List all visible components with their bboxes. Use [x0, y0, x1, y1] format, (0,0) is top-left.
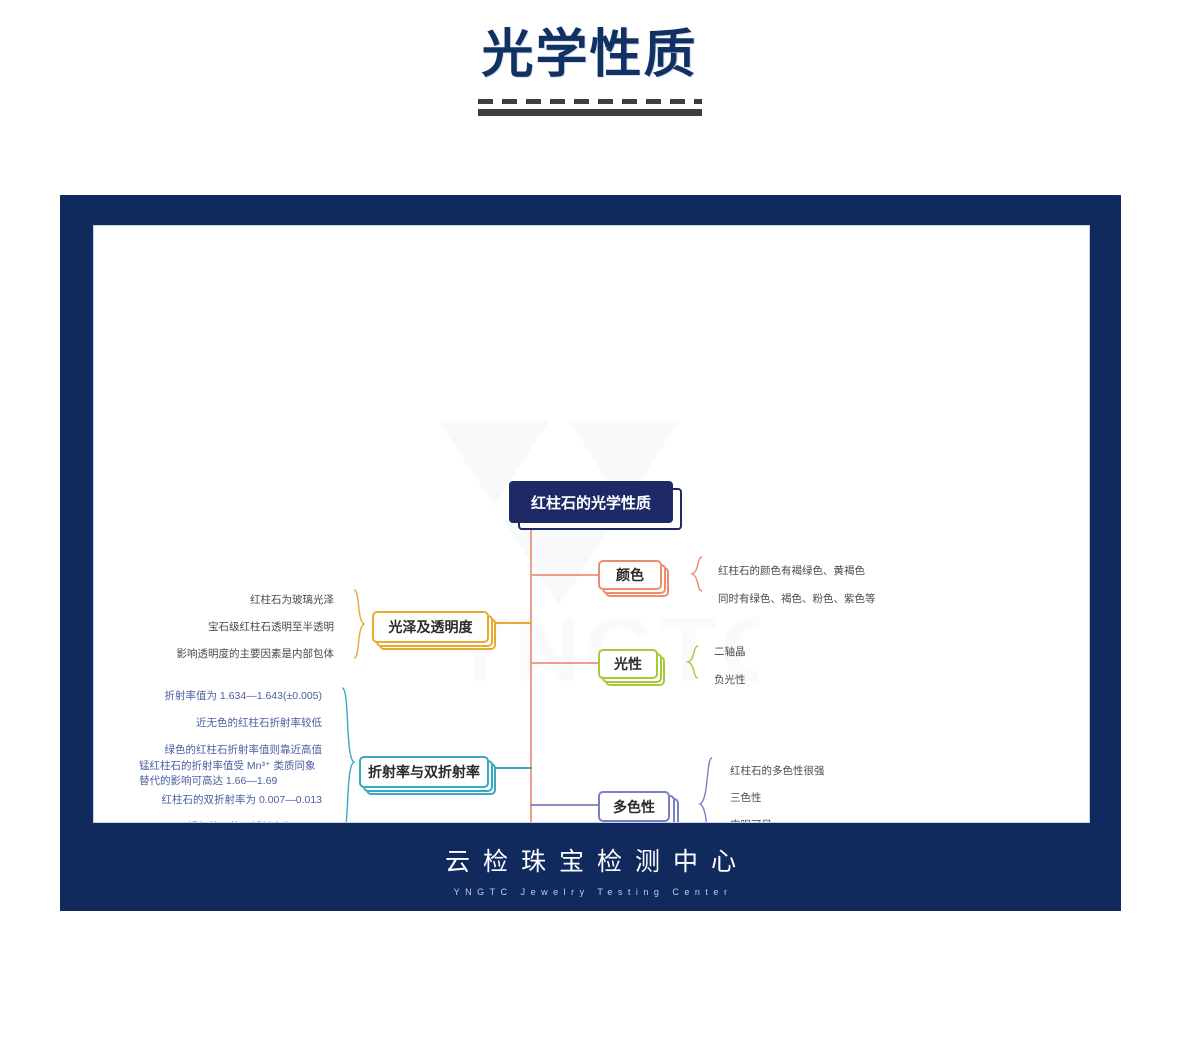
connector-refractive — [492, 767, 532, 769]
leaf-optical-2: 负光性 — [714, 673, 746, 688]
leaf-refractive-6: 锰红柱石的双折射率为 0.029 — [94, 820, 322, 823]
page-title: 光学性质 — [0, 24, 1179, 86]
brace-optical-character — [686, 645, 700, 679]
connector-luster — [492, 622, 532, 624]
node-pleochroism[interactable]: 多色性 — [598, 791, 670, 822]
spine-vertical — [530, 519, 532, 823]
title-solid-rule — [478, 109, 702, 116]
title-underline-group — [478, 99, 702, 116]
brace-luster — [352, 588, 366, 660]
title-dashed-rule — [478, 99, 702, 104]
brace-color — [690, 556, 704, 592]
leaf-pleochroism-1: 红柱石的多色性很强 — [730, 764, 825, 779]
leaf-luster-3: 影响透明度的主要因素是内部包体 — [94, 647, 334, 662]
brace-pleochroism — [698, 756, 714, 823]
leaf-refractive-3: 绿色的红柱石折射率值则靠近高值 — [94, 743, 322, 758]
leaf-luster-1: 红柱石为玻璃光泽 — [94, 593, 334, 608]
root-node[interactable]: 红柱石的光学性质 — [509, 481, 673, 523]
footer: 云检珠宝检测中心 YNGTC Jewelry Testing Center — [60, 842, 1121, 897]
connector-optical-character — [530, 662, 598, 664]
brace-refractive — [340, 686, 356, 823]
footer-title-cn: 云检珠宝检测中心 — [60, 842, 1121, 878]
leaf-luster-2: 宝石级红柱石透明至半透明 — [94, 620, 334, 635]
leaf-color-2: 同时有绿色、褐色、粉色、紫色等 — [718, 592, 876, 607]
leaf-refractive-4: 锰红柱石的折射率值受 Mn³⁺ 类质同象替代的影响可高达 1.66—1.69 — [139, 759, 322, 789]
connector-color — [530, 574, 598, 576]
node-refractive[interactable]: 折射率与双折射率 — [359, 756, 489, 788]
yngtc-watermark: YNGTC — [429, 411, 759, 711]
mindmap-panel: YNGTC 红柱石的光学性质 颜色 红柱石的颜色有褐绿色、黄褐色 同时有绿色、褐… — [93, 225, 1090, 823]
leaf-refractive-1: 折射率值为 1.634—1.643(±0.005) — [94, 689, 322, 704]
connector-pleochroism — [530, 804, 598, 806]
leaf-refractive-2: 近无色的红柱石折射率较低 — [94, 716, 322, 731]
footer-title-en: YNGTC Jewelry Testing Center — [60, 887, 1121, 897]
node-color[interactable]: 颜色 — [598, 560, 662, 590]
leaf-pleochroism-2: 三色性 — [730, 791, 762, 806]
node-luster[interactable]: 光泽及透明度 — [372, 611, 489, 643]
leaf-refractive-5: 红柱石的双折射率为 0.007—0.013 — [94, 793, 322, 808]
leaf-color-1: 红柱石的颜色有褐绿色、黄褐色 — [718, 564, 865, 579]
leaf-pleochroism-3: 肉眼可见 — [730, 818, 772, 823]
navy-card-frame: YNGTC 红柱石的光学性质 颜色 红柱石的颜色有褐绿色、黄褐色 同时有绿色、褐… — [60, 195, 1121, 911]
node-optical-character[interactable]: 光性 — [598, 649, 658, 679]
leaf-optical-1: 二轴晶 — [714, 645, 746, 660]
page-header: 光学性质 — [0, 24, 1179, 86]
